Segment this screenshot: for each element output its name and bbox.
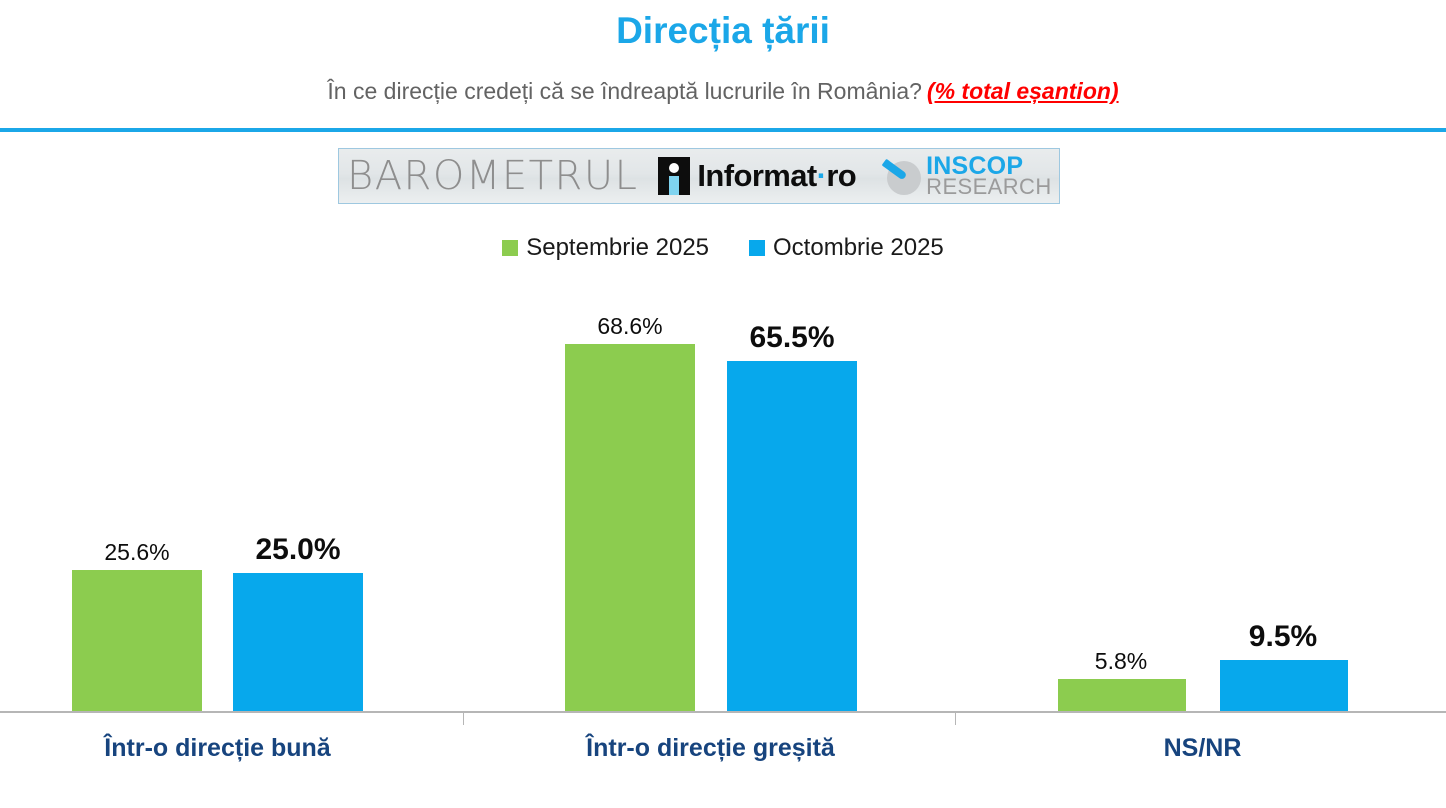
bar-septembrie-ns-nr[interactable]	[1058, 679, 1186, 711]
legend-item-octombrie[interactable]: Octombrie 2025	[749, 234, 944, 262]
informat-tld: ro	[826, 158, 856, 193]
informat-person-icon	[658, 157, 690, 195]
informat-name: Informat	[697, 158, 816, 193]
informat-icon-head	[669, 163, 679, 173]
informat-wordmark: Informat·ro	[697, 158, 856, 194]
x-axis-tick-1	[463, 713, 464, 725]
chart-subtitle: În ce direcție credeți că se îndreaptă l…	[0, 76, 1446, 106]
plot-area: 25.6% 25.0% 68.6% 65.5% 5.8% 9.5%	[0, 284, 1446, 712]
bar-octombrie-directie-buna[interactable]	[233, 573, 363, 711]
chart-legend: Septembrie 2025 Octombrie 2025	[0, 234, 1446, 262]
bar-octombrie-ns-nr[interactable]	[1220, 660, 1348, 711]
bar-octombrie-directie-gresita[interactable]	[727, 361, 857, 711]
inscop-circle-icon	[882, 155, 924, 197]
inscop-logo: INSCOP RESEARCH	[882, 154, 1051, 198]
x-axis-line	[0, 711, 1446, 713]
bar-value-septembrie-directie-gresita: 68.6%	[565, 313, 695, 339]
inscop-wordmark: INSCOP RESEARCH	[926, 154, 1051, 198]
inscop-sub: RESEARCH	[926, 176, 1051, 198]
informat-dot: ·	[817, 158, 827, 193]
category-label-directie-gresita: Într-o direcție greșită	[533, 733, 888, 763]
legend-item-septembrie[interactable]: Septembrie 2025	[502, 234, 709, 262]
legend-swatch-septembrie	[502, 240, 518, 256]
logo-banner: BAROMETRUL Informat·ro INSCOP RESEARCH	[338, 148, 1060, 204]
legend-swatch-octombrie	[749, 240, 765, 256]
informat-icon-body	[669, 176, 679, 195]
bar-value-septembrie-ns-nr: 5.8%	[1056, 648, 1186, 674]
bar-value-septembrie-directie-buna: 25.6%	[72, 539, 202, 565]
barometrul-wordmark: BAROMETRUL	[347, 155, 638, 197]
x-axis-tick-2	[955, 713, 956, 725]
subtitle-question: În ce direcție credeți că se îndreaptă l…	[327, 78, 921, 104]
bar-septembrie-directie-gresita[interactable]	[565, 344, 695, 711]
bar-septembrie-directie-buna[interactable]	[72, 570, 202, 711]
category-label-ns-nr: NS/NR	[1025, 733, 1380, 763]
subtitle-emphasis: (% total eșantion)	[927, 78, 1119, 104]
page-title: Direcția țării	[0, 8, 1446, 54]
bar-value-octombrie-directie-gresita: 65.5%	[727, 321, 857, 355]
bar-value-octombrie-directie-buna: 25.0%	[233, 533, 363, 567]
header-divider	[0, 128, 1446, 132]
legend-label-octombrie: Octombrie 2025	[773, 234, 944, 262]
bar-value-octombrie-ns-nr: 9.5%	[1218, 620, 1348, 654]
category-label-directie-buna: Într-o direcție bună	[40, 733, 395, 763]
legend-label-septembrie: Septembrie 2025	[526, 234, 709, 262]
informat-logo: Informat·ro	[658, 157, 856, 195]
chart-page: Direcția țării În ce direcție credeți că…	[0, 0, 1446, 808]
